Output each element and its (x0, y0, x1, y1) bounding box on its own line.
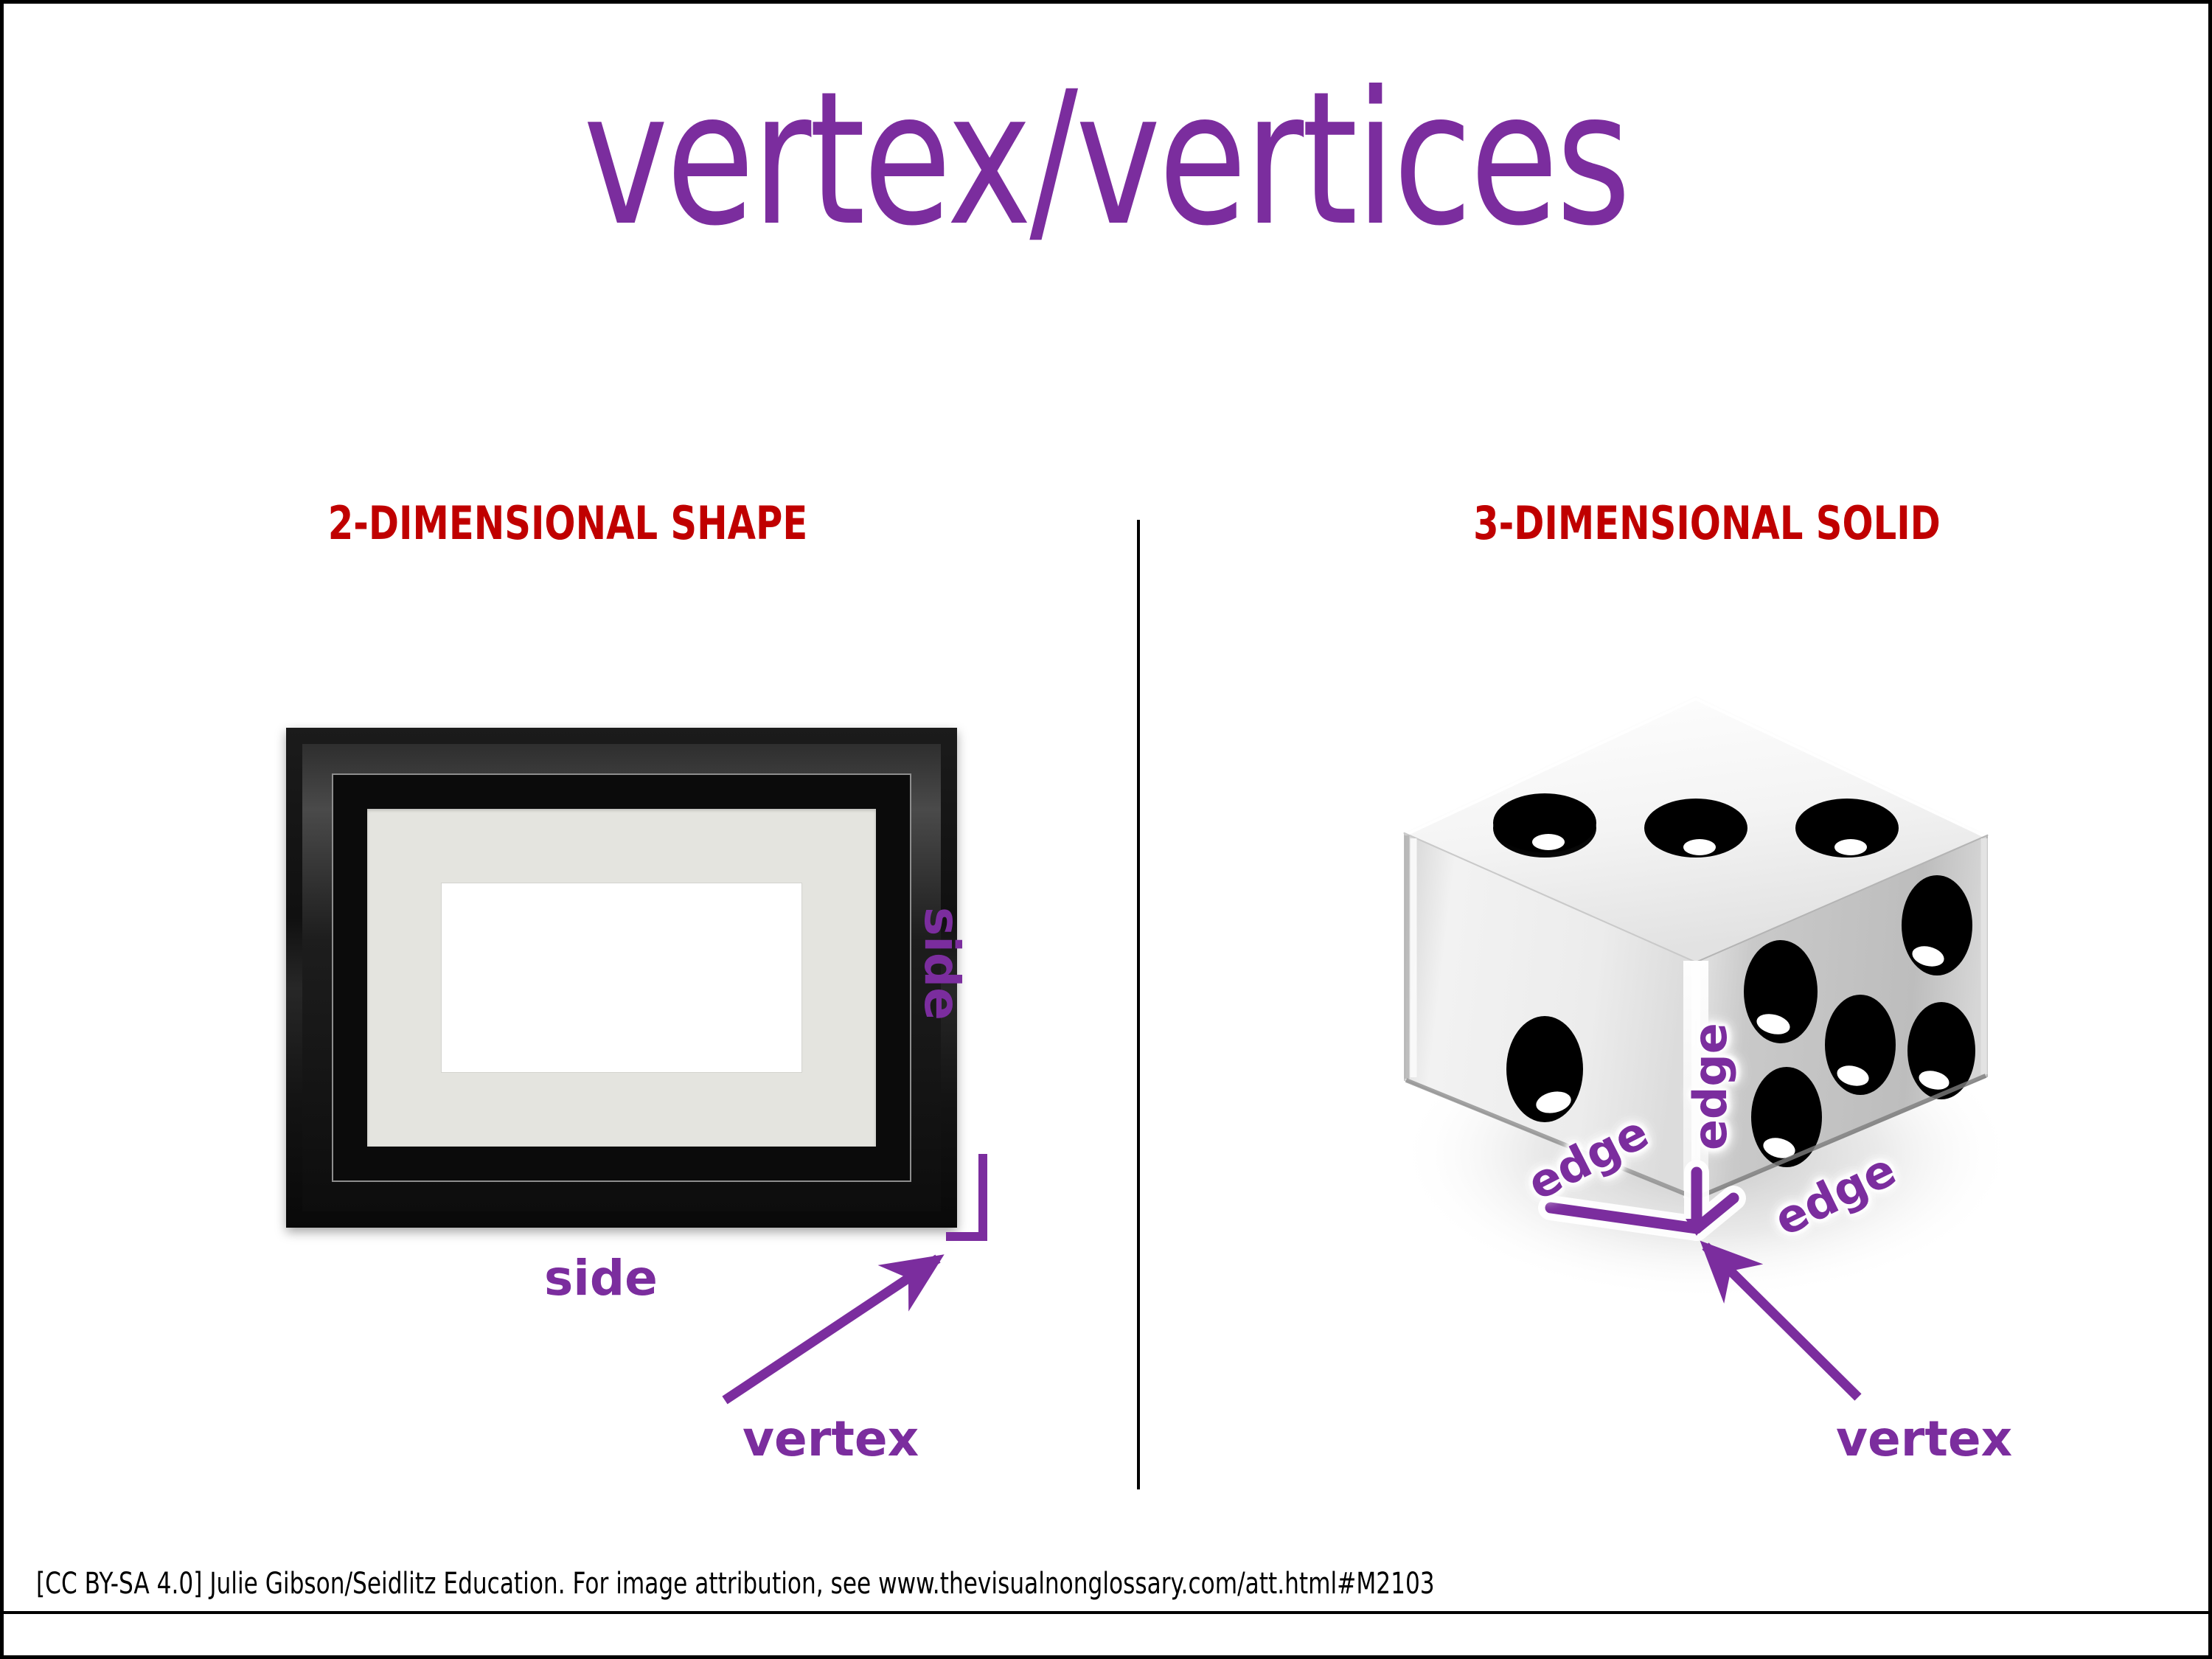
panel-divider (1137, 520, 1140, 1489)
glossary-card: vertex/vertices 2-DIMENSIONAL SHAPE 3-DI… (0, 0, 2212, 1659)
section-heading-3d: 3-DIMENSIONAL SOLID (1382, 496, 2031, 550)
label-vertex-2d: vertex (742, 1411, 919, 1467)
label-edge-middle: edge (1683, 1023, 1737, 1150)
footer-divider (4, 1611, 2208, 1614)
frame-picture-area (441, 883, 802, 1073)
vertex-arrow-2d (667, 1213, 992, 1434)
section-heading-2d: 2-DIMENSIONAL SHAPE (243, 496, 892, 550)
vertex-arrow-3d (1641, 1217, 1935, 1438)
picture-frame-illustration (286, 728, 957, 1228)
die-left-pips (1506, 1016, 1583, 1122)
frame-bevel-band (302, 744, 941, 1211)
frame-outer-molding (286, 728, 957, 1228)
footer-attribution: [CC BY-SA 4.0] Julie Gibson/Seidlitz Edu… (36, 1567, 1435, 1601)
die-top-pips (1493, 793, 1899, 858)
frame-inner-lip (332, 773, 911, 1182)
label-vertex-3d: vertex (1836, 1411, 2012, 1467)
label-side-bottom: side (544, 1250, 658, 1307)
page-title: vertex/vertices (246, 63, 1966, 257)
label-side-right: side (914, 907, 970, 1020)
frame-mat (367, 809, 876, 1147)
